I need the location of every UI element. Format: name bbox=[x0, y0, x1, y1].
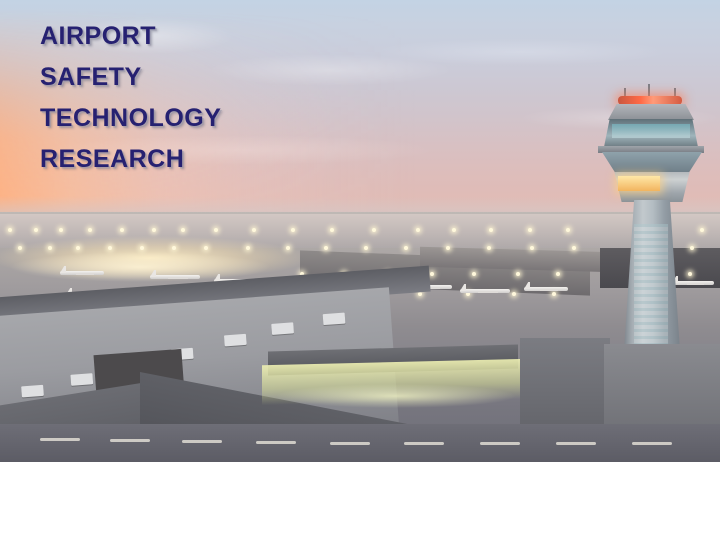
aircraft-parked bbox=[150, 272, 200, 282]
title-line-4: RESEARCH bbox=[40, 139, 221, 180]
tower-catwalk bbox=[598, 146, 704, 153]
tower-lit-window bbox=[618, 176, 660, 191]
title-slide: AIRPORT SAFETY TECHNOLOGY RESEARCH 29th … bbox=[0, 0, 720, 540]
tower-roof bbox=[608, 104, 694, 120]
aircraft-parked bbox=[460, 286, 510, 296]
tower-cab-windows bbox=[612, 124, 690, 138]
curbside-lighting-core bbox=[276, 384, 516, 408]
aircraft-parked bbox=[60, 268, 104, 278]
tower-beacon-light bbox=[618, 96, 682, 105]
slide-footer: 29th Annual Airport Conference February … bbox=[0, 462, 720, 540]
aircraft-parked bbox=[524, 284, 568, 294]
title-line-1: AIRPORT bbox=[40, 16, 221, 57]
page-title: AIRPORT SAFETY TECHNOLOGY RESEARCH bbox=[40, 16, 221, 180]
tower-skirt-roof bbox=[602, 152, 702, 174]
foreground-roadway bbox=[0, 424, 720, 462]
title-line-3: TECHNOLOGY bbox=[40, 98, 221, 139]
title-line-2: SAFETY bbox=[40, 57, 221, 98]
